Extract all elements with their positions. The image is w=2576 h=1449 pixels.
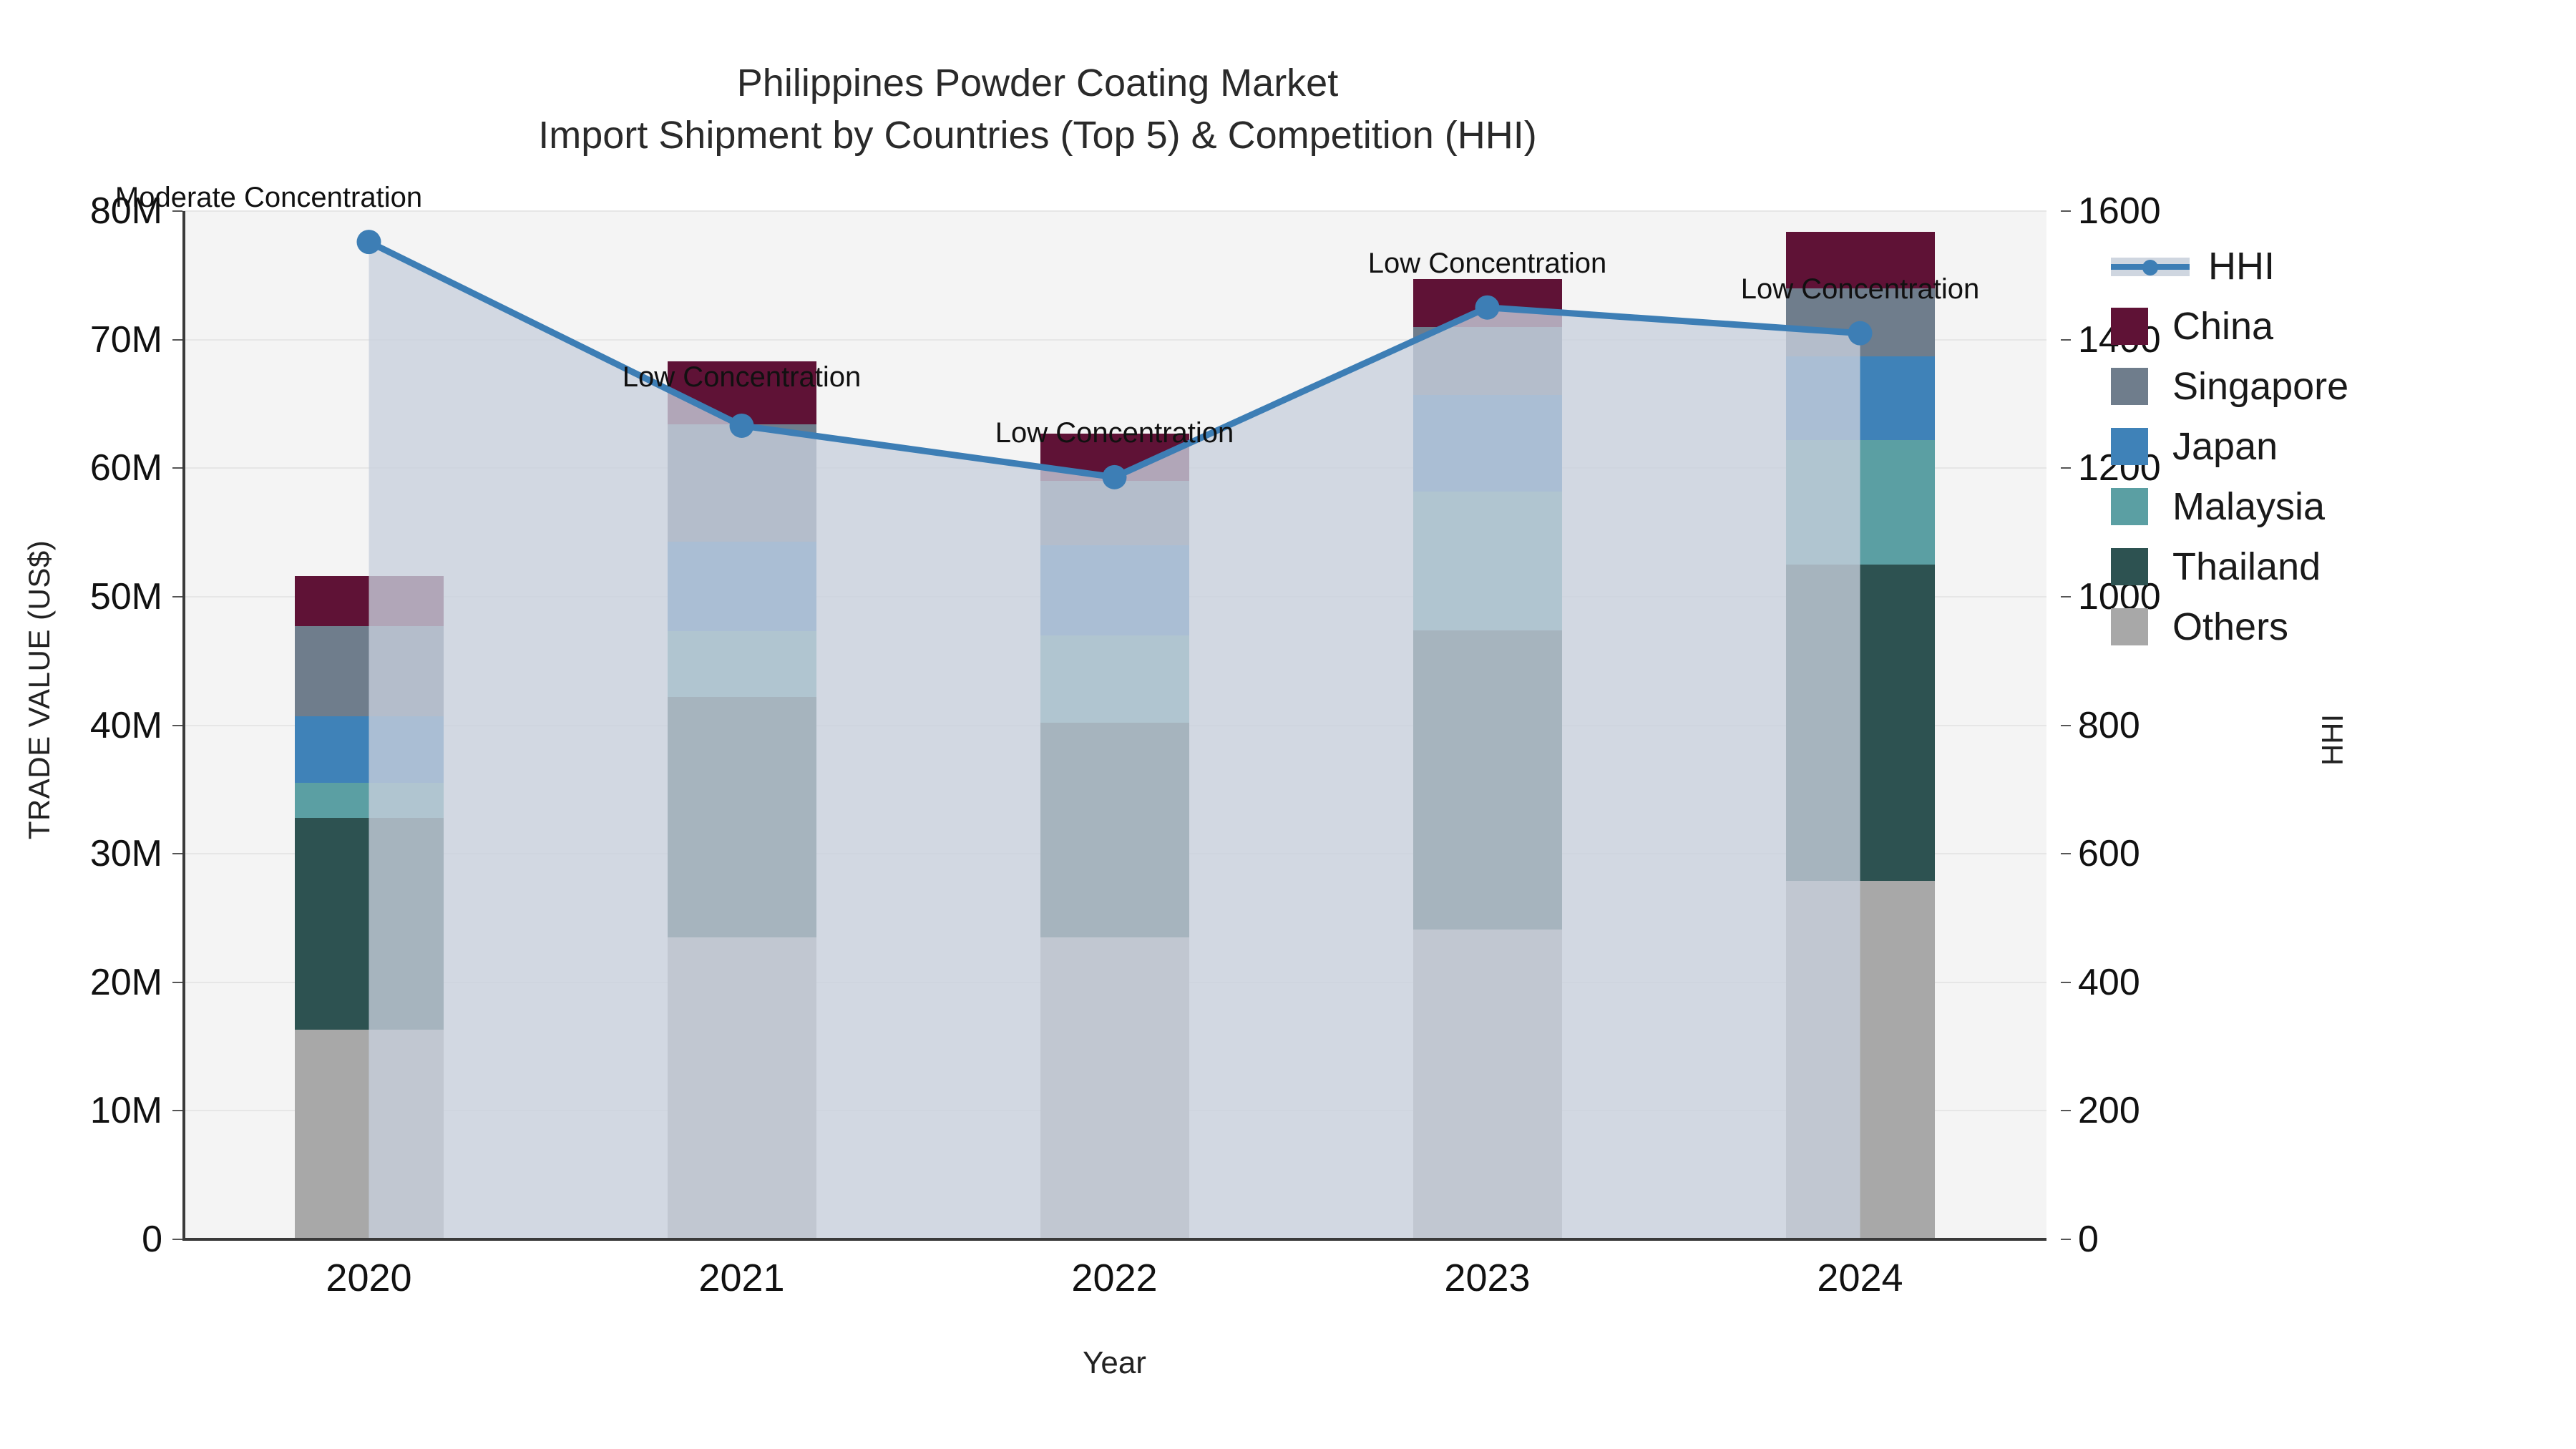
annotation-2021: Low Concentration <box>623 361 862 394</box>
legend-item-hhi[interactable]: HHI <box>2111 236 2555 296</box>
legend-swatch-malaysia <box>2111 488 2148 525</box>
y-tickmark-left <box>172 467 182 469</box>
y-tick-left-60M: 60M <box>90 447 162 489</box>
y-tick-left-0: 0 <box>142 1218 162 1261</box>
annotation-2023: Low Concentration <box>1368 248 1607 280</box>
x-tick-2023: 2023 <box>1444 1256 1530 1300</box>
legend-swatch-others <box>2111 608 2148 645</box>
legend-label-japan: Japan <box>2172 424 2278 469</box>
x-tick-2021: 2021 <box>698 1256 784 1300</box>
hhi-marker-2023[interactable] <box>1475 296 1500 320</box>
y-tick-left-80M: 80M <box>90 190 162 233</box>
legend-label-others: Others <box>2172 605 2288 649</box>
y-tickmark-left <box>172 1239 182 1240</box>
legend-item-malaysia[interactable]: Malaysia <box>2111 477 2555 537</box>
legend-label-malaysia: Malaysia <box>2172 484 2325 529</box>
y-tickmark-left <box>172 725 182 726</box>
annotation-2024: Low Concentration <box>1741 273 1980 306</box>
y-tickmark-right <box>2061 210 2071 212</box>
legend-item-others[interactable]: Others <box>2111 597 2555 657</box>
y-tickmark-left <box>172 210 182 212</box>
y-tick-right-200: 200 <box>2078 1089 2140 1132</box>
hhi-marker-2022[interactable] <box>1103 465 1127 489</box>
y-tick-right-600: 600 <box>2078 832 2140 875</box>
legend-swatch-thailand <box>2111 548 2148 585</box>
y-tick-left-70M: 70M <box>90 318 162 361</box>
y-tick-left-30M: 30M <box>90 832 162 875</box>
y-tickmark-right <box>2061 596 2071 597</box>
legend-line-icon <box>2111 248 2190 285</box>
y-tick-left-10M: 10M <box>90 1089 162 1132</box>
legend-swatch-japan <box>2111 428 2148 465</box>
legend-item-japan[interactable]: Japan <box>2111 416 2555 477</box>
y-tickmark-left <box>172 339 182 341</box>
hhi-marker-2021[interactable] <box>730 414 754 438</box>
hhi-marker-2024[interactable] <box>1848 321 1873 346</box>
y-tickmark-right <box>2061 853 2071 854</box>
y-tickmark-right <box>2061 1239 2071 1240</box>
legend-swatch-singapore <box>2111 368 2148 405</box>
hhi-line-layer <box>182 211 2046 1239</box>
chart-title-line-1: Philippines Powder Coating Market <box>0 57 2075 109</box>
y-tick-right-800: 800 <box>2078 704 2140 747</box>
y-tickmark-left <box>172 982 182 983</box>
legend-label-singapore: Singapore <box>2172 364 2348 409</box>
y-tickmark-right <box>2061 982 2071 983</box>
y-axis-right-ticks: 02004006008001000120014001600 <box>2061 0 2275 1449</box>
y-tickmark-left <box>172 853 182 854</box>
y-tickmark-left <box>172 1110 182 1111</box>
y-axis-left-label: TRADE VALUE (US$) <box>22 475 57 904</box>
legend-swatch-china <box>2111 308 2148 345</box>
chart-canvas: Philippines Powder Coating Market Import… <box>0 0 2576 1449</box>
legend-item-thailand[interactable]: Thailand <box>2111 537 2555 597</box>
y-tick-left-40M: 40M <box>90 704 162 747</box>
y-tick-right-0: 0 <box>2078 1218 2099 1261</box>
x-axis-line <box>182 1238 2046 1241</box>
hhi-marker-2020[interactable] <box>357 230 381 254</box>
chart-title: Philippines Powder Coating Market Import… <box>0 57 2075 162</box>
legend-label-hhi: HHI <box>2208 244 2275 288</box>
y-tickmark-left <box>172 596 182 597</box>
legend-label-thailand: Thailand <box>2172 545 2321 589</box>
legend-item-china[interactable]: China <box>2111 296 2555 356</box>
hhi-area-fill <box>369 242 1860 1239</box>
legend-item-singapore[interactable]: Singapore <box>2111 356 2555 416</box>
legend: HHIChinaSingaporeJapanMalaysiaThailandOt… <box>2111 236 2555 657</box>
x-tick-2024: 2024 <box>1817 1256 1903 1300</box>
chart-title-line-2: Import Shipment by Countries (Top 5) & C… <box>0 109 2075 162</box>
annotation-2022: Low Concentration <box>995 417 1234 449</box>
y-axis-line <box>182 211 185 1239</box>
y-tickmark-right <box>2061 725 2071 726</box>
y-tick-left-20M: 20M <box>90 961 162 1004</box>
x-tick-2022: 2022 <box>1071 1256 1157 1300</box>
y-tickmark-right <box>2061 467 2071 469</box>
x-axis-label: Year <box>182 1345 2046 1381</box>
y-tick-left-50M: 50M <box>90 575 162 618</box>
y-axis-right-label: HHI <box>2316 633 2350 847</box>
y-tickmark-right <box>2061 1110 2071 1111</box>
y-tick-right-1600: 1600 <box>2078 190 2161 233</box>
y-tickmark-right <box>2061 339 2071 341</box>
x-tick-2020: 2020 <box>326 1256 411 1300</box>
legend-label-china: China <box>2172 304 2273 348</box>
y-tick-right-400: 400 <box>2078 961 2140 1004</box>
legend-line-dot <box>2142 260 2158 275</box>
